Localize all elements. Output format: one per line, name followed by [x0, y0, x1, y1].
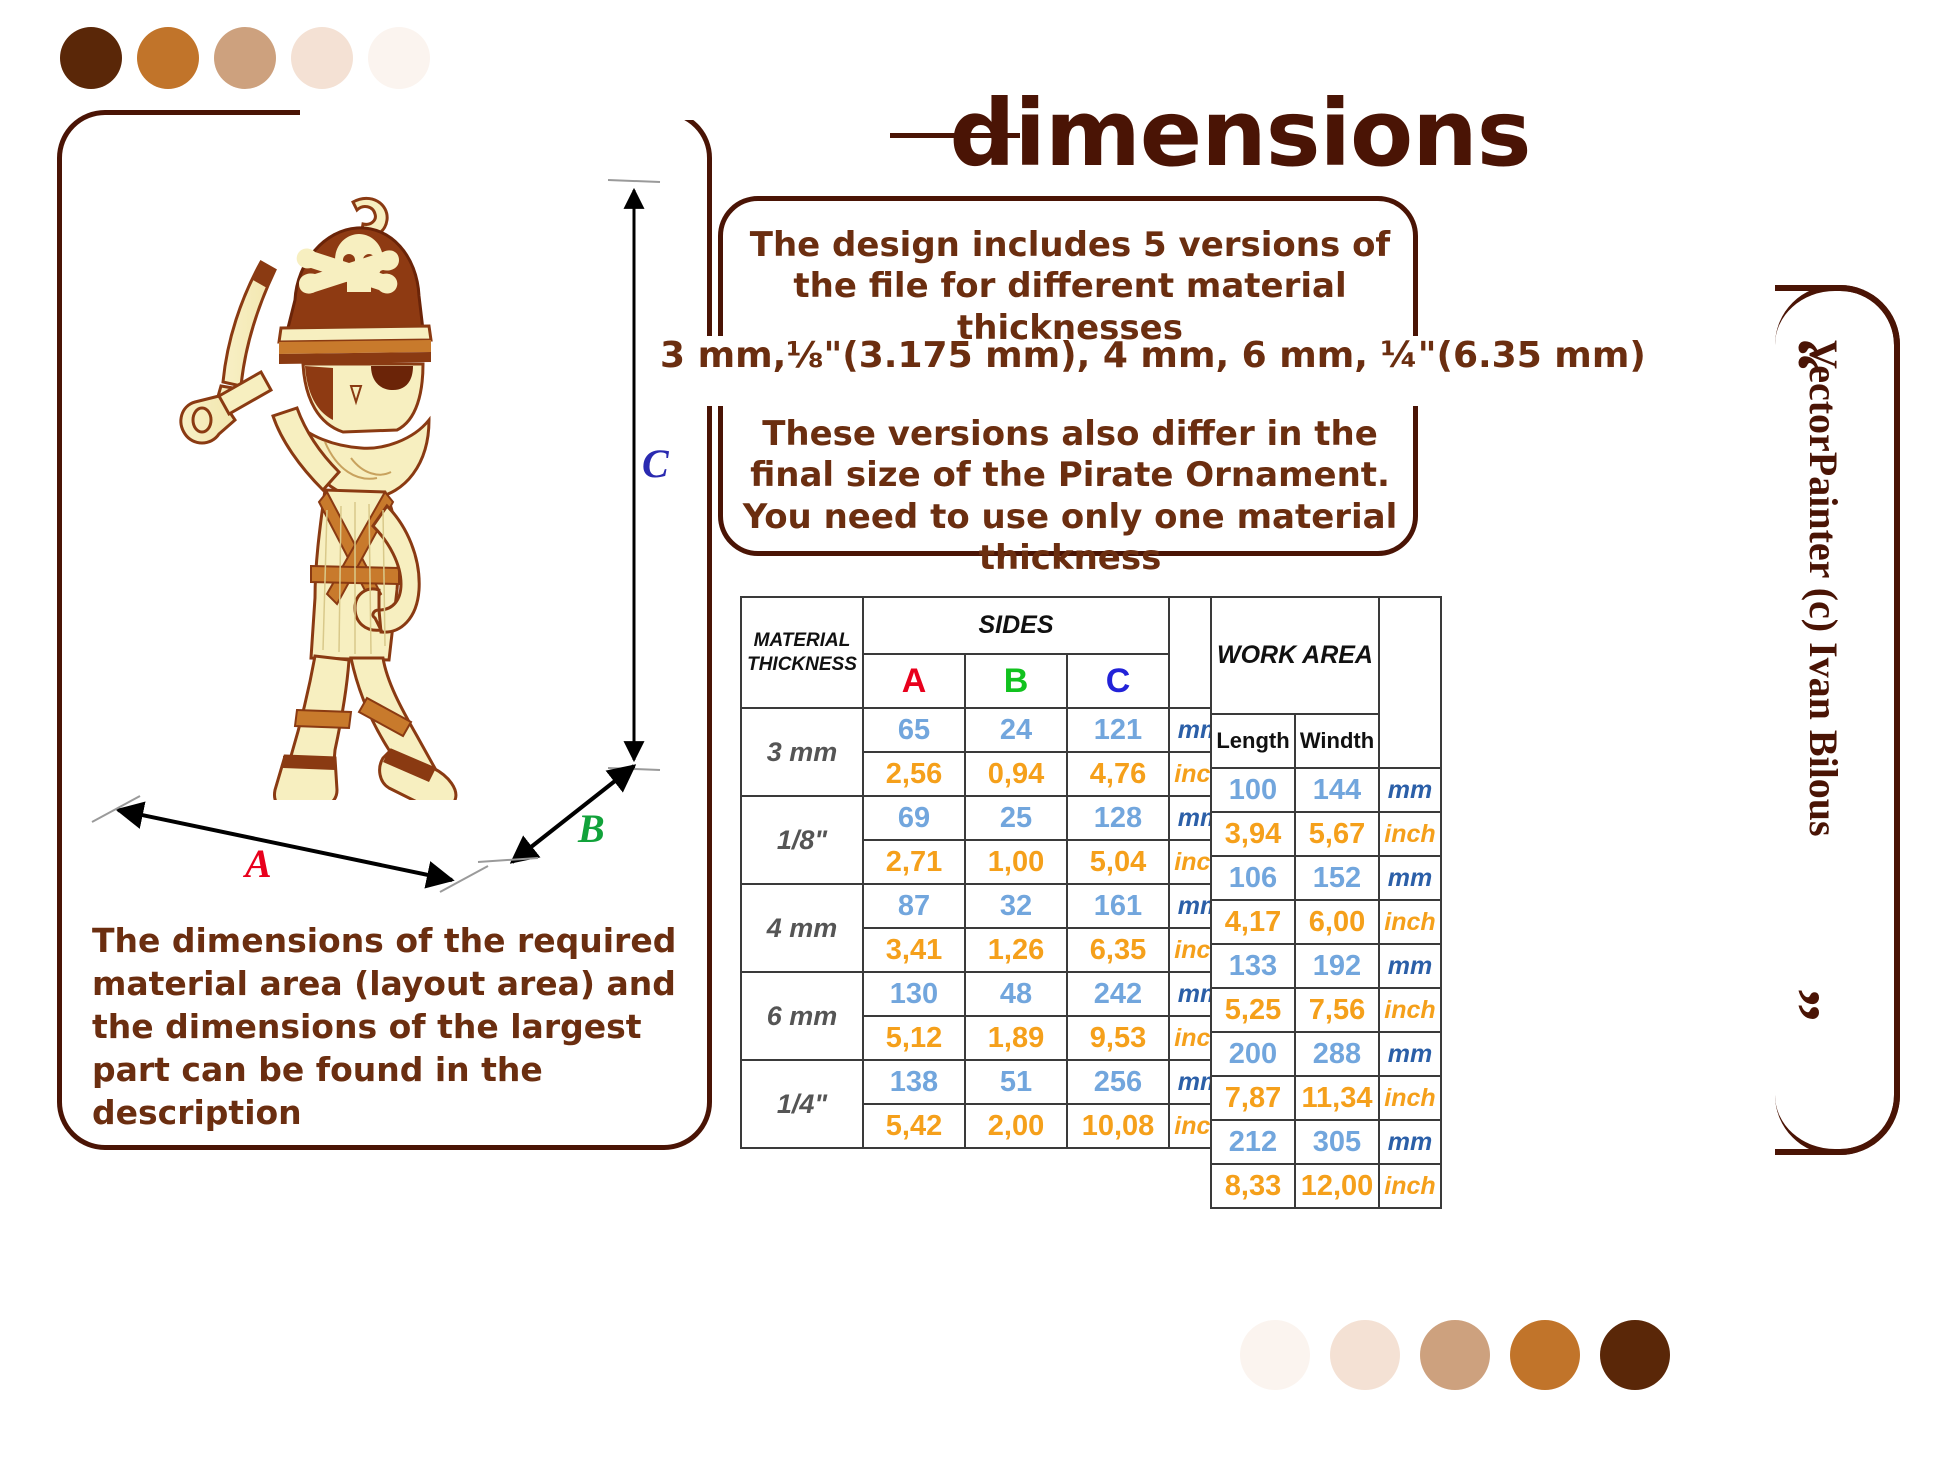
cell-work-inch-2-1: 7,56: [1295, 988, 1379, 1032]
cell-sides-inch-0-1: 0,94: [965, 752, 1067, 796]
cell-sides-inch-0-2: 4,76: [1067, 752, 1169, 796]
swatch-top-4: [368, 27, 430, 89]
watermark-text: VectorPainter (c) Ivan Bilous: [1800, 340, 1847, 837]
cell-work-mm-4-1: 305: [1295, 1120, 1379, 1164]
swatch-top-3: [291, 27, 353, 89]
cell-sides-mm-4-0: 138: [863, 1060, 965, 1104]
table-row: 7,8711,34inch: [1211, 1076, 1441, 1120]
unit-spacer-header-work: [1379, 597, 1441, 768]
unit-work-mm-3: mm: [1379, 1032, 1441, 1076]
cell-work-mm-2-0: 133: [1211, 944, 1295, 988]
unit-work-mm-0: mm: [1379, 768, 1441, 812]
swatch-top-0: [60, 27, 122, 89]
table-row: 100144mm: [1211, 768, 1441, 812]
info-line-thicknesses: 3 mm,⅛"(3.175 mm), 4 mm, 6 mm, ¼"(6.35 m…: [660, 334, 1490, 377]
swatch-top-1: [137, 27, 199, 89]
unit-work-inch-4: inch: [1379, 1164, 1441, 1208]
cell-sides-inch-3-1: 1,89: [965, 1016, 1067, 1060]
cell-work-inch-3-1: 11,34: [1295, 1076, 1379, 1120]
table-row: 3,945,67inch: [1211, 812, 1441, 856]
table-row: 212305mm: [1211, 1120, 1441, 1164]
cell-sides-mm-3-1: 48: [965, 972, 1067, 1016]
header-sides: SIDES: [863, 597, 1169, 654]
cell-work-mm-1-0: 106: [1211, 856, 1295, 900]
unit-work-inch-2: inch: [1379, 988, 1441, 1032]
cell-work-inch-2-0: 5,25: [1211, 988, 1295, 1032]
palette-swatches-top: [60, 27, 430, 89]
cell-work-inch-0-0: 3,94: [1211, 812, 1295, 856]
cell-sides-mm-4-1: 51: [965, 1060, 1067, 1104]
table-row: 106152mm: [1211, 856, 1441, 900]
swatch-bottom-1: [1330, 1320, 1400, 1390]
cell-thickness-3: 6 mm: [741, 972, 863, 1060]
cell-work-inch-4-0: 8,33: [1211, 1164, 1295, 1208]
sides-table: MATERIALTHICKNESSSIDESABC3 mm6524121mm2,…: [740, 596, 1232, 1149]
cell-work-mm-3-0: 200: [1211, 1032, 1295, 1076]
table-row: 4 mm8732161mm: [741, 884, 1231, 928]
swatch-bottom-4: [1600, 1320, 1670, 1390]
table-row: 6 mm13048242mm: [741, 972, 1231, 1016]
cell-sides-mm-4-2: 256: [1067, 1060, 1169, 1104]
header-side-b: B: [965, 654, 1067, 708]
unit-work-mm-4: mm: [1379, 1120, 1441, 1164]
quote-close-icon: ”: [1757, 988, 1836, 1022]
table-row: 1/8"6925128mm: [741, 796, 1231, 840]
dimension-label-c: C: [642, 440, 669, 487]
cell-sides-mm-0-2: 121: [1067, 708, 1169, 752]
header-work-area: WORK AREA: [1211, 597, 1379, 714]
cell-sides-inch-0-0: 2,56: [863, 752, 965, 796]
cell-thickness-1: 1/8": [741, 796, 863, 884]
swatch-top-2: [214, 27, 276, 89]
pirate-ornament-figure: [175, 190, 505, 800]
dimension-label-b: B: [578, 805, 605, 852]
header-side-c: C: [1067, 654, 1169, 708]
table-header-row: WORK AREA: [1211, 597, 1441, 714]
cell-sides-inch-3-0: 5,12: [863, 1016, 965, 1060]
watermark: VectorPainter (c) Ivan Bilous: [1800, 340, 1860, 1030]
cell-sides-mm-2-1: 32: [965, 884, 1067, 928]
unit-work-inch-0: inch: [1379, 812, 1441, 856]
cell-sides-inch-4-1: 2,00: [965, 1104, 1067, 1148]
unit-work-inch-3: inch: [1379, 1076, 1441, 1120]
table-row: 3 mm6524121mm: [741, 708, 1231, 752]
cell-sides-inch-4-0: 5,42: [863, 1104, 965, 1148]
cell-sides-inch-2-2: 6,35: [1067, 928, 1169, 972]
table-row: 133192mm: [1211, 944, 1441, 988]
table-row: 5,257,56inch: [1211, 988, 1441, 1032]
header-work-length: Length: [1211, 714, 1295, 768]
layout-area-note: The dimensions of the required material …: [92, 920, 712, 1134]
cell-sides-mm-1-2: 128: [1067, 796, 1169, 840]
table-row: 4,176,00inch: [1211, 900, 1441, 944]
dimension-label-a: A: [245, 840, 272, 887]
pirate-legs: [275, 656, 456, 800]
cell-sides-inch-3-2: 9,53: [1067, 1016, 1169, 1060]
cell-sides-mm-1-0: 69: [863, 796, 965, 840]
cell-sides-mm-0-0: 65: [863, 708, 965, 752]
cell-sides-inch-1-0: 2,71: [863, 840, 965, 884]
unit-work-inch-1: inch: [1379, 900, 1441, 944]
header-side-a: A: [863, 654, 965, 708]
cell-sides-inch-2-0: 3,41: [863, 928, 965, 972]
cell-work-mm-2-1: 192: [1295, 944, 1379, 988]
page-title: dimensions: [930, 88, 1550, 180]
header-work-windth: Windth: [1295, 714, 1379, 768]
swatch-bottom-0: [1240, 1320, 1310, 1390]
left-panel-top-gap: [300, 104, 720, 120]
cell-sides-mm-0-1: 24: [965, 708, 1067, 752]
palette-swatches-bottom: [1240, 1320, 1670, 1390]
cell-work-mm-0-1: 144: [1295, 768, 1379, 812]
cell-sides-inch-1-1: 1,00: [965, 840, 1067, 884]
pirate-hat: [279, 198, 431, 364]
poster-canvas: dimensions: [0, 0, 1946, 1460]
cell-sides-inch-2-1: 1,26: [965, 928, 1067, 972]
cell-work-inch-1-1: 6,00: [1295, 900, 1379, 944]
work-area-table: WORK AREALengthWindth100144mm3,945,67inc…: [1210, 596, 1442, 1209]
right-bracket-mask: [1655, 280, 1775, 1160]
pirate-sword: [181, 262, 275, 443]
table-header-row: MATERIALTHICKNESSSIDES: [741, 597, 1231, 654]
swatch-bottom-3: [1510, 1320, 1580, 1390]
header-material-thickness: MATERIALTHICKNESS: [741, 597, 863, 708]
table-row: 1/4"13851256mm: [741, 1060, 1231, 1104]
info-line-sizes: These versions also differ in the final …: [725, 414, 1415, 580]
unit-work-mm-2: mm: [1379, 944, 1441, 988]
cell-thickness-0: 3 mm: [741, 708, 863, 796]
cell-thickness-2: 4 mm: [741, 884, 863, 972]
cell-work-mm-1-1: 152: [1295, 856, 1379, 900]
cell-work-inch-0-1: 5,67: [1295, 812, 1379, 856]
info-line-versions: The design includes 5 versions of the fi…: [730, 225, 1410, 349]
swatch-bottom-2: [1420, 1320, 1490, 1390]
header-material-thickness-line2: THICKNESS: [742, 653, 862, 677]
cell-work-mm-0-0: 100: [1211, 768, 1295, 812]
cell-work-mm-4-0: 212: [1211, 1120, 1295, 1164]
unit-work-mm-1: mm: [1379, 856, 1441, 900]
table-row: 200288mm: [1211, 1032, 1441, 1076]
cell-sides-mm-1-1: 25: [965, 796, 1067, 840]
cell-sides-inch-4-2: 10,08: [1067, 1104, 1169, 1148]
table-row: 8,3312,00inch: [1211, 1164, 1441, 1208]
cell-work-inch-4-1: 12,00: [1295, 1164, 1379, 1208]
cell-thickness-4: 1/4": [741, 1060, 863, 1148]
cell-sides-mm-3-2: 242: [1067, 972, 1169, 1016]
cell-sides-inch-1-2: 5,04: [1067, 840, 1169, 884]
cell-sides-mm-2-2: 161: [1067, 884, 1169, 928]
cell-sides-mm-3-0: 130: [863, 972, 965, 1016]
cell-sides-mm-2-0: 87: [863, 884, 965, 928]
cell-work-inch-1-0: 4,17: [1211, 900, 1295, 944]
cell-work-inch-3-0: 7,87: [1211, 1076, 1295, 1120]
header-material-thickness-line1: MATERIAL: [742, 629, 862, 653]
cell-work-mm-3-1: 288: [1295, 1032, 1379, 1076]
